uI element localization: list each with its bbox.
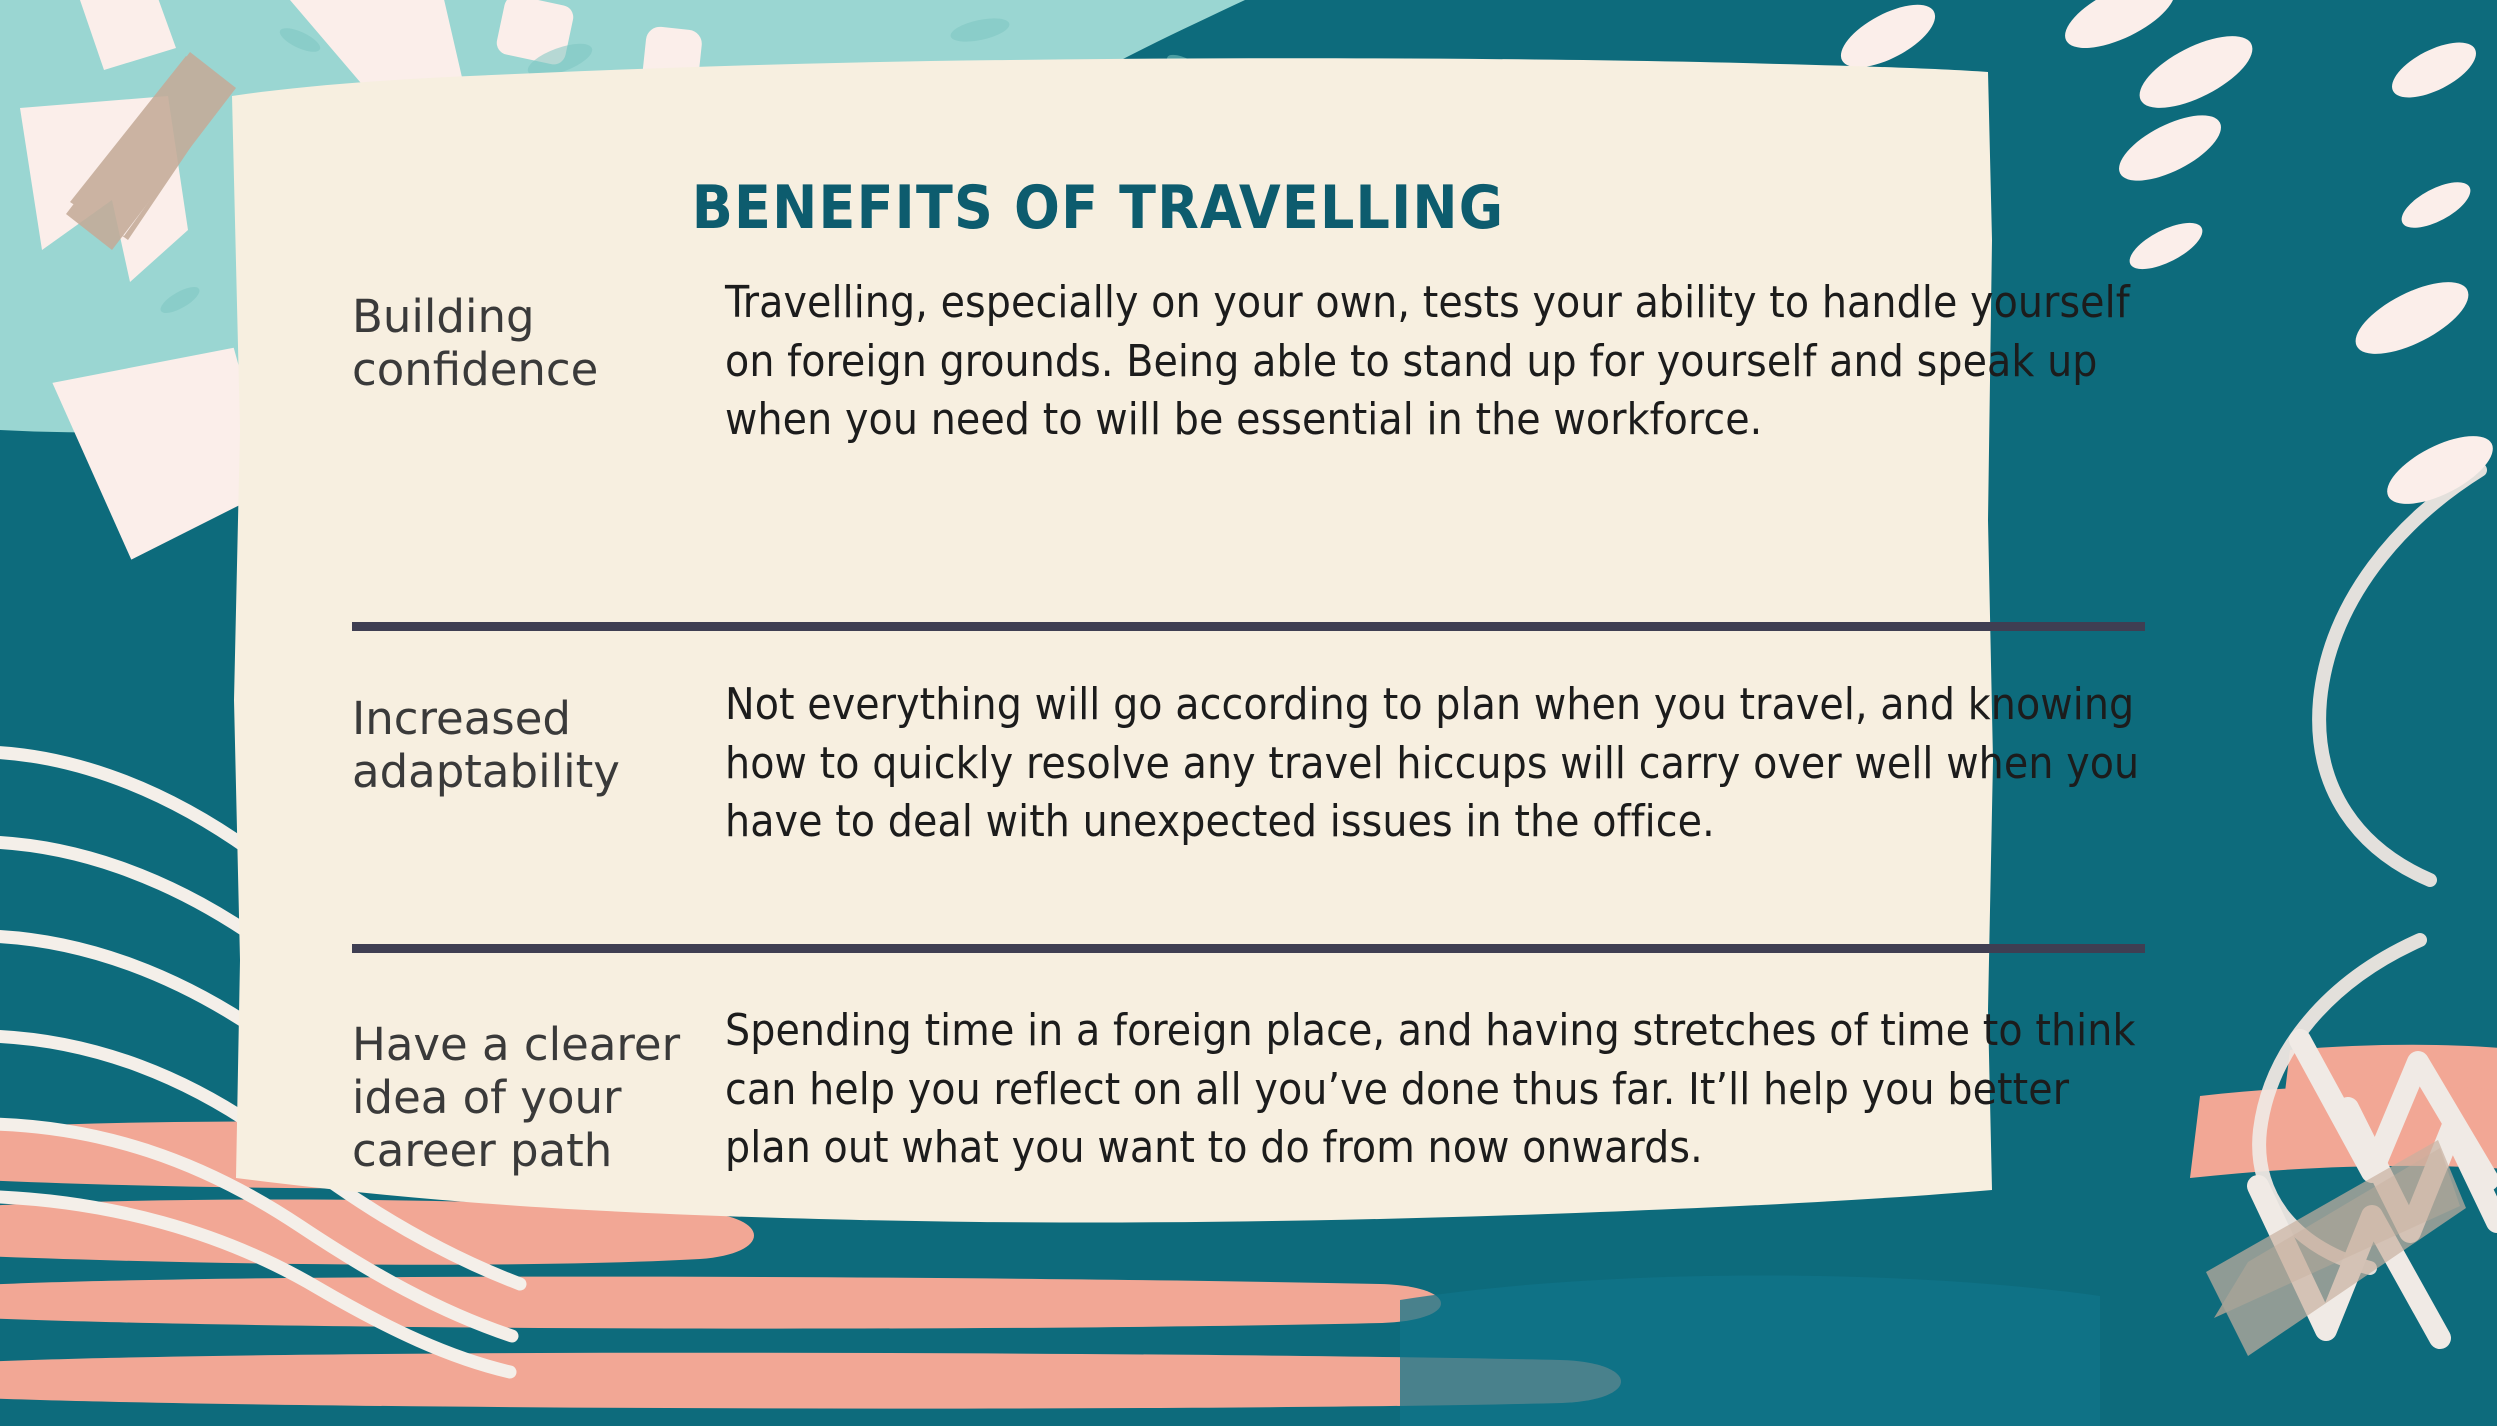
soft-teal-shape (1400, 1275, 2100, 1426)
benefit-description: Spending time in a foreign place, and ha… (707, 1002, 2145, 1178)
page-title: BENEFITS OF TRAVELLING (228, 178, 1968, 238)
row-divider (352, 944, 2145, 953)
benefit-label: Have a clearer idea of your career path (352, 1002, 707, 1177)
slide-canvas: BENEFITS OF TRAVELLING Building confiden… (0, 0, 2497, 1426)
benefit-label: Increased adaptability (352, 676, 707, 798)
benefit-row: Increased adaptability Not everything wi… (352, 676, 2145, 852)
benefit-row: Building confidence Travelling, especial… (352, 274, 2145, 450)
benefit-row: Have a clearer idea of your career path … (352, 1002, 2145, 1178)
benefit-description: Travelling, especially on your own, test… (707, 274, 2145, 450)
row-divider (352, 622, 2145, 631)
benefit-description: Not everything will go according to plan… (707, 676, 2145, 852)
benefit-label: Building confidence (352, 274, 707, 396)
